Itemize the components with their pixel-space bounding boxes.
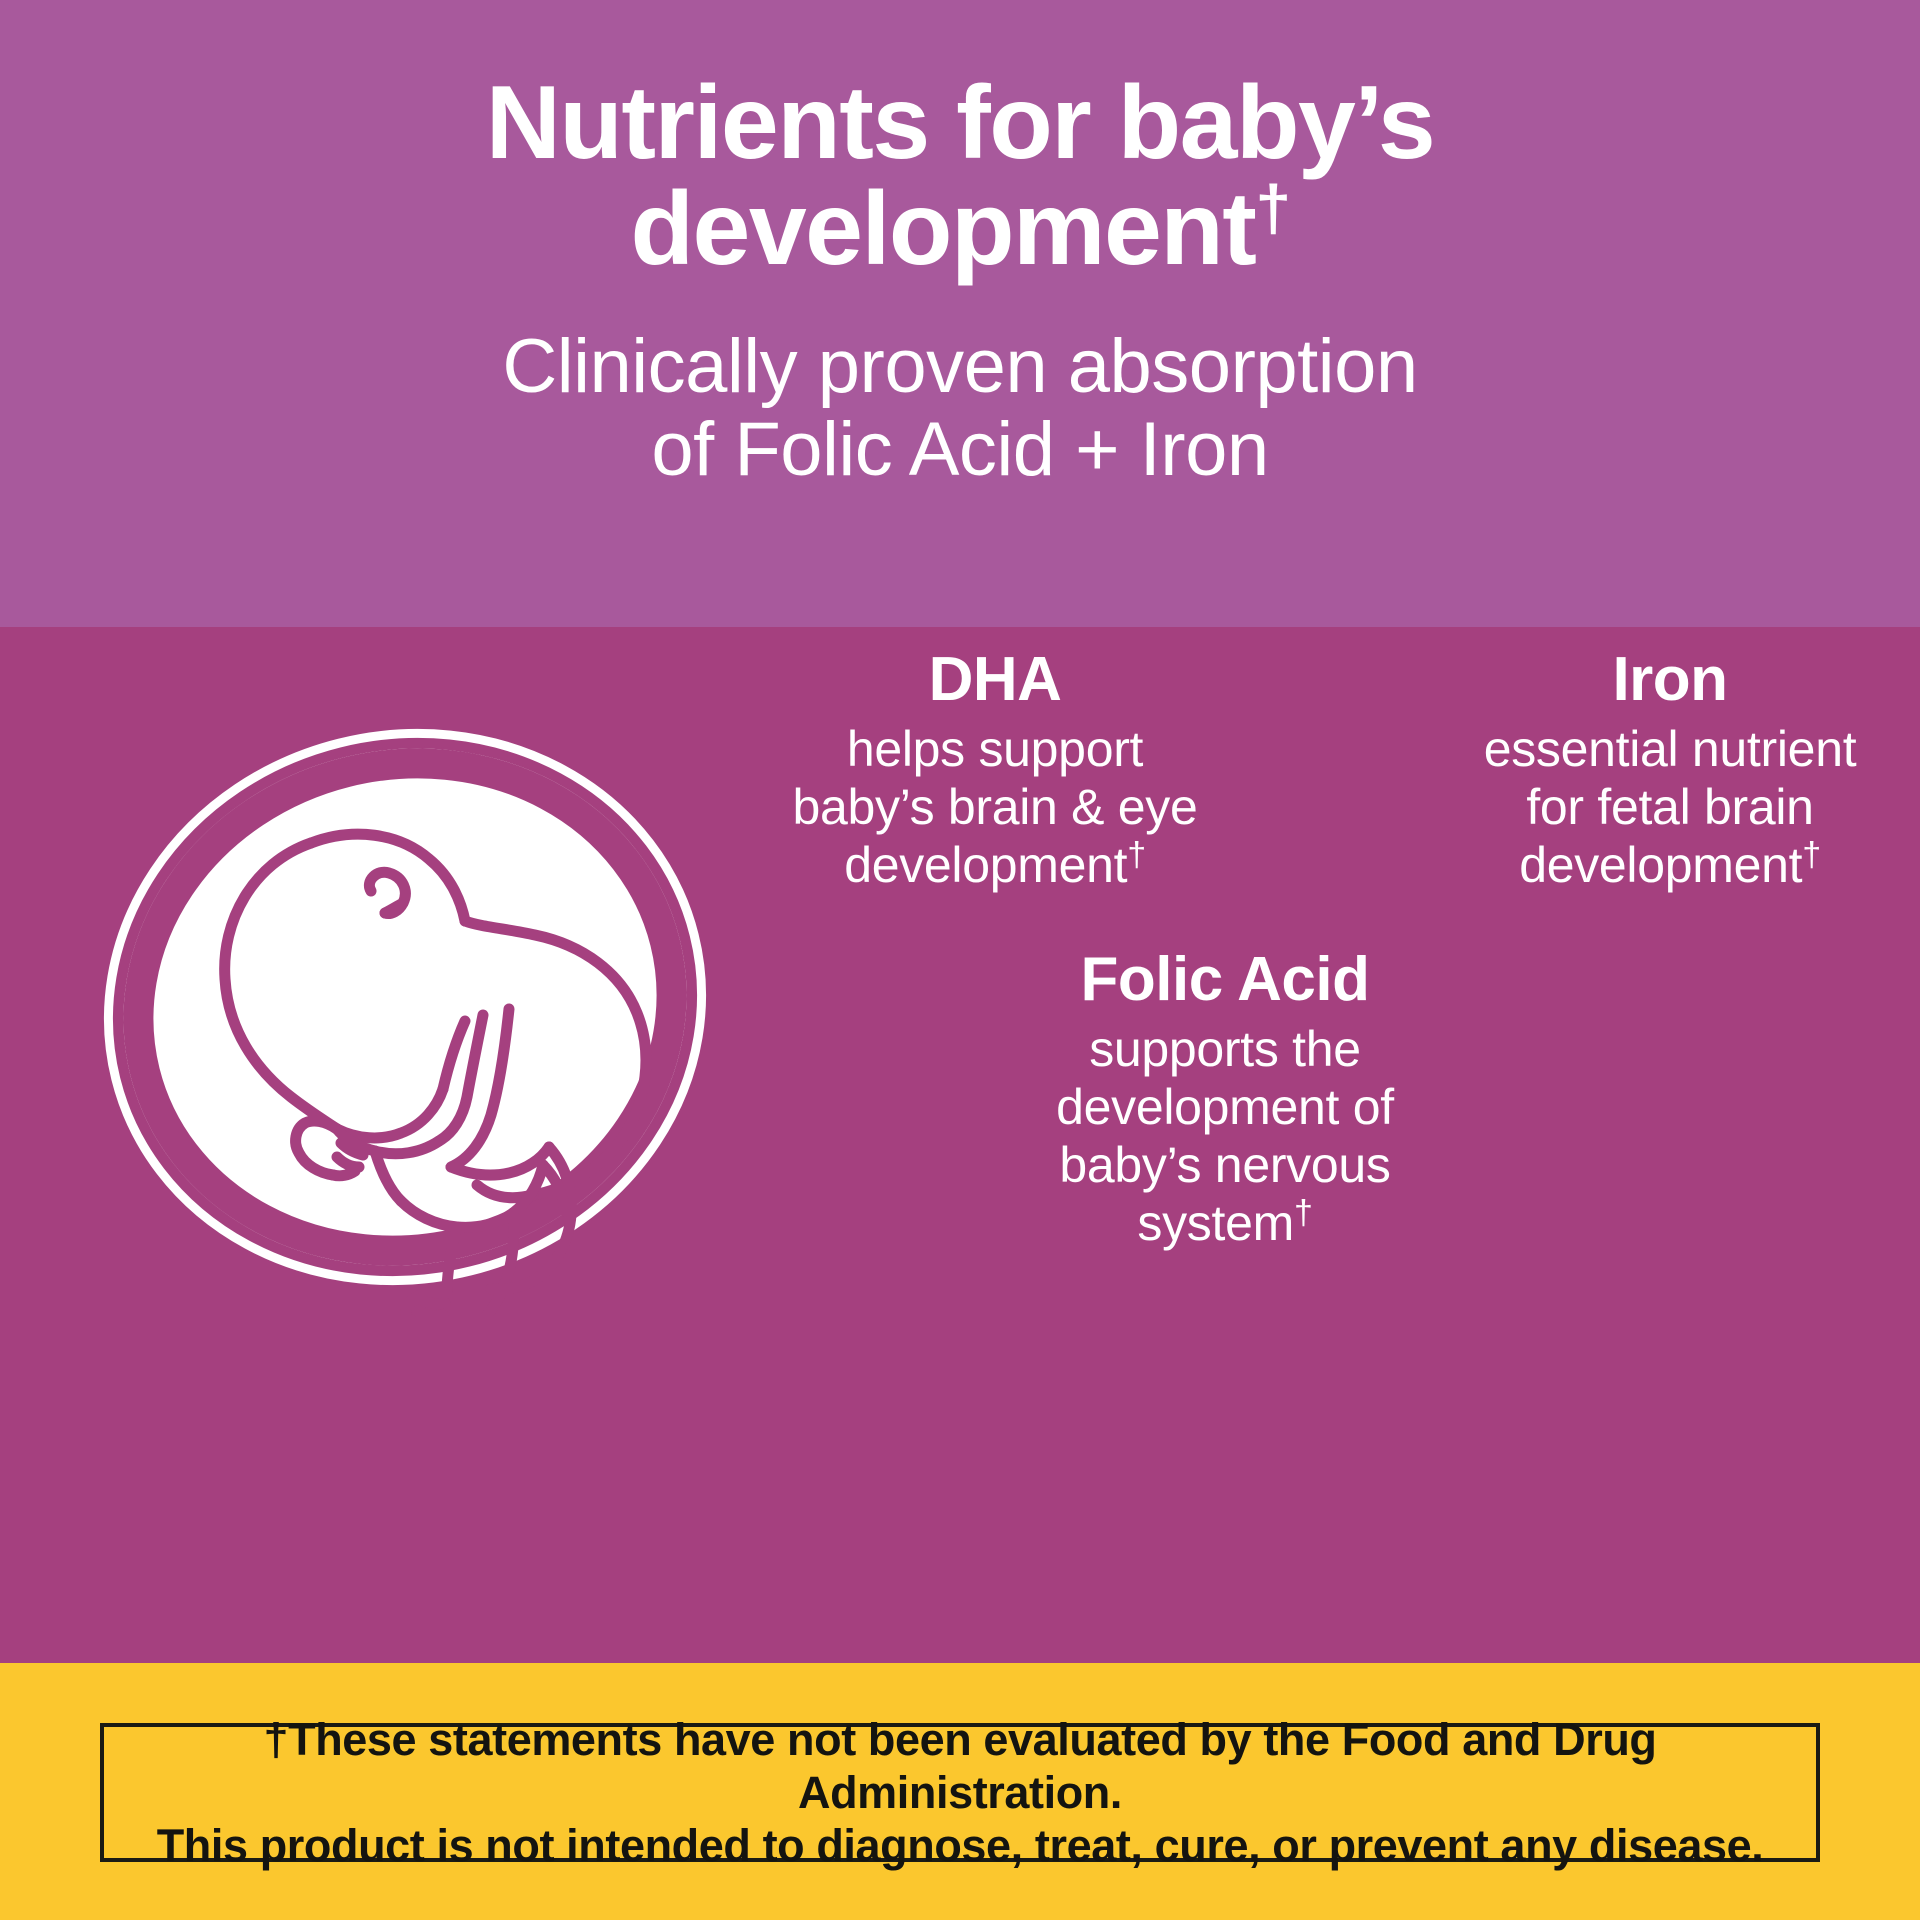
nutrient-title-dha: DHA [760,647,1230,712]
nutrient-desc-folic-acid: supports the development of baby’s nervo… [965,1020,1485,1252]
iron-desc-line-2: for fetal brain [1526,779,1813,835]
folic-dagger-symbol: † [1294,1194,1313,1232]
nutrition-infographic-poster: Nutrients for baby’s development† Clinic… [0,0,1920,1920]
nutrient-title-folic-acid: Folic Acid [965,947,1485,1012]
disclaimer-line-1: †These statements have not been evaluate… [263,1714,1656,1818]
dha-desc-line-3: development [844,837,1127,893]
nutrient-item-iron: Iron essential nutrient for fetal brain … [1430,647,1910,894]
headline-line-1: Nutrients for baby’s [486,65,1435,181]
headline-dagger-symbol: † [1255,172,1289,244]
disclaimer-line-2: This product is not intended to diagnose… [157,1820,1764,1871]
fetus-in-womb-icon [85,677,725,1317]
headline-line-2: development [630,171,1255,287]
folic-desc-line-4: system [1137,1195,1294,1251]
page-subtitle: Clinically proven absorption of Folic Ac… [210,326,1710,492]
nutrient-title-iron: Iron [1430,647,1910,712]
fetus-toes-2 [419,1299,445,1304]
body-band: DHA helps support baby’s brain & eye dev… [0,627,1920,1663]
dha-desc-line-1: helps support [847,721,1143,777]
nutrient-list: DHA helps support baby’s brain & eye dev… [760,627,1920,1663]
nutrient-row-top: DHA helps support baby’s brain & eye dev… [760,647,1920,894]
folic-desc-line-2: development of [1056,1079,1394,1135]
iron-desc-line-3: development [1519,837,1802,893]
dha-desc-line-2: baby’s brain & eye [792,779,1197,835]
fda-disclaimer-box: †These statements have not been evaluate… [100,1723,1820,1862]
fetus-fingers-1 [333,1171,355,1176]
nutrient-desc-dha: helps support baby’s brain & eye develop… [760,720,1230,894]
folic-desc-line-3: baby’s nervous [1059,1137,1390,1193]
fda-disclaimer-text: †These statements have not been evaluate… [104,1713,1816,1872]
dha-dagger-symbol: † [1127,836,1146,874]
page-title: Nutrients for baby’s development† [260,70,1660,282]
header-band: Nutrients for baby’s development† Clinic… [0,0,1920,627]
nutrient-item-dha: DHA helps support baby’s brain & eye dev… [760,647,1230,894]
nutrient-desc-iron: essential nutrient for fetal brain devel… [1430,720,1910,894]
subhead-line-1: Clinically proven absorption [502,324,1417,409]
subhead-line-2: of Folic Acid + Iron [651,407,1268,492]
iron-desc-line-1: essential nutrient [1484,721,1857,777]
nutrient-item-folic-acid: Folic Acid supports the development of b… [965,947,1485,1252]
folic-desc-line-1: supports the [1089,1021,1361,1077]
iron-dagger-symbol: † [1802,836,1821,874]
footer-band: †These statements have not been evaluate… [0,1663,1920,1920]
fetus-toes-1 [417,1311,443,1316]
